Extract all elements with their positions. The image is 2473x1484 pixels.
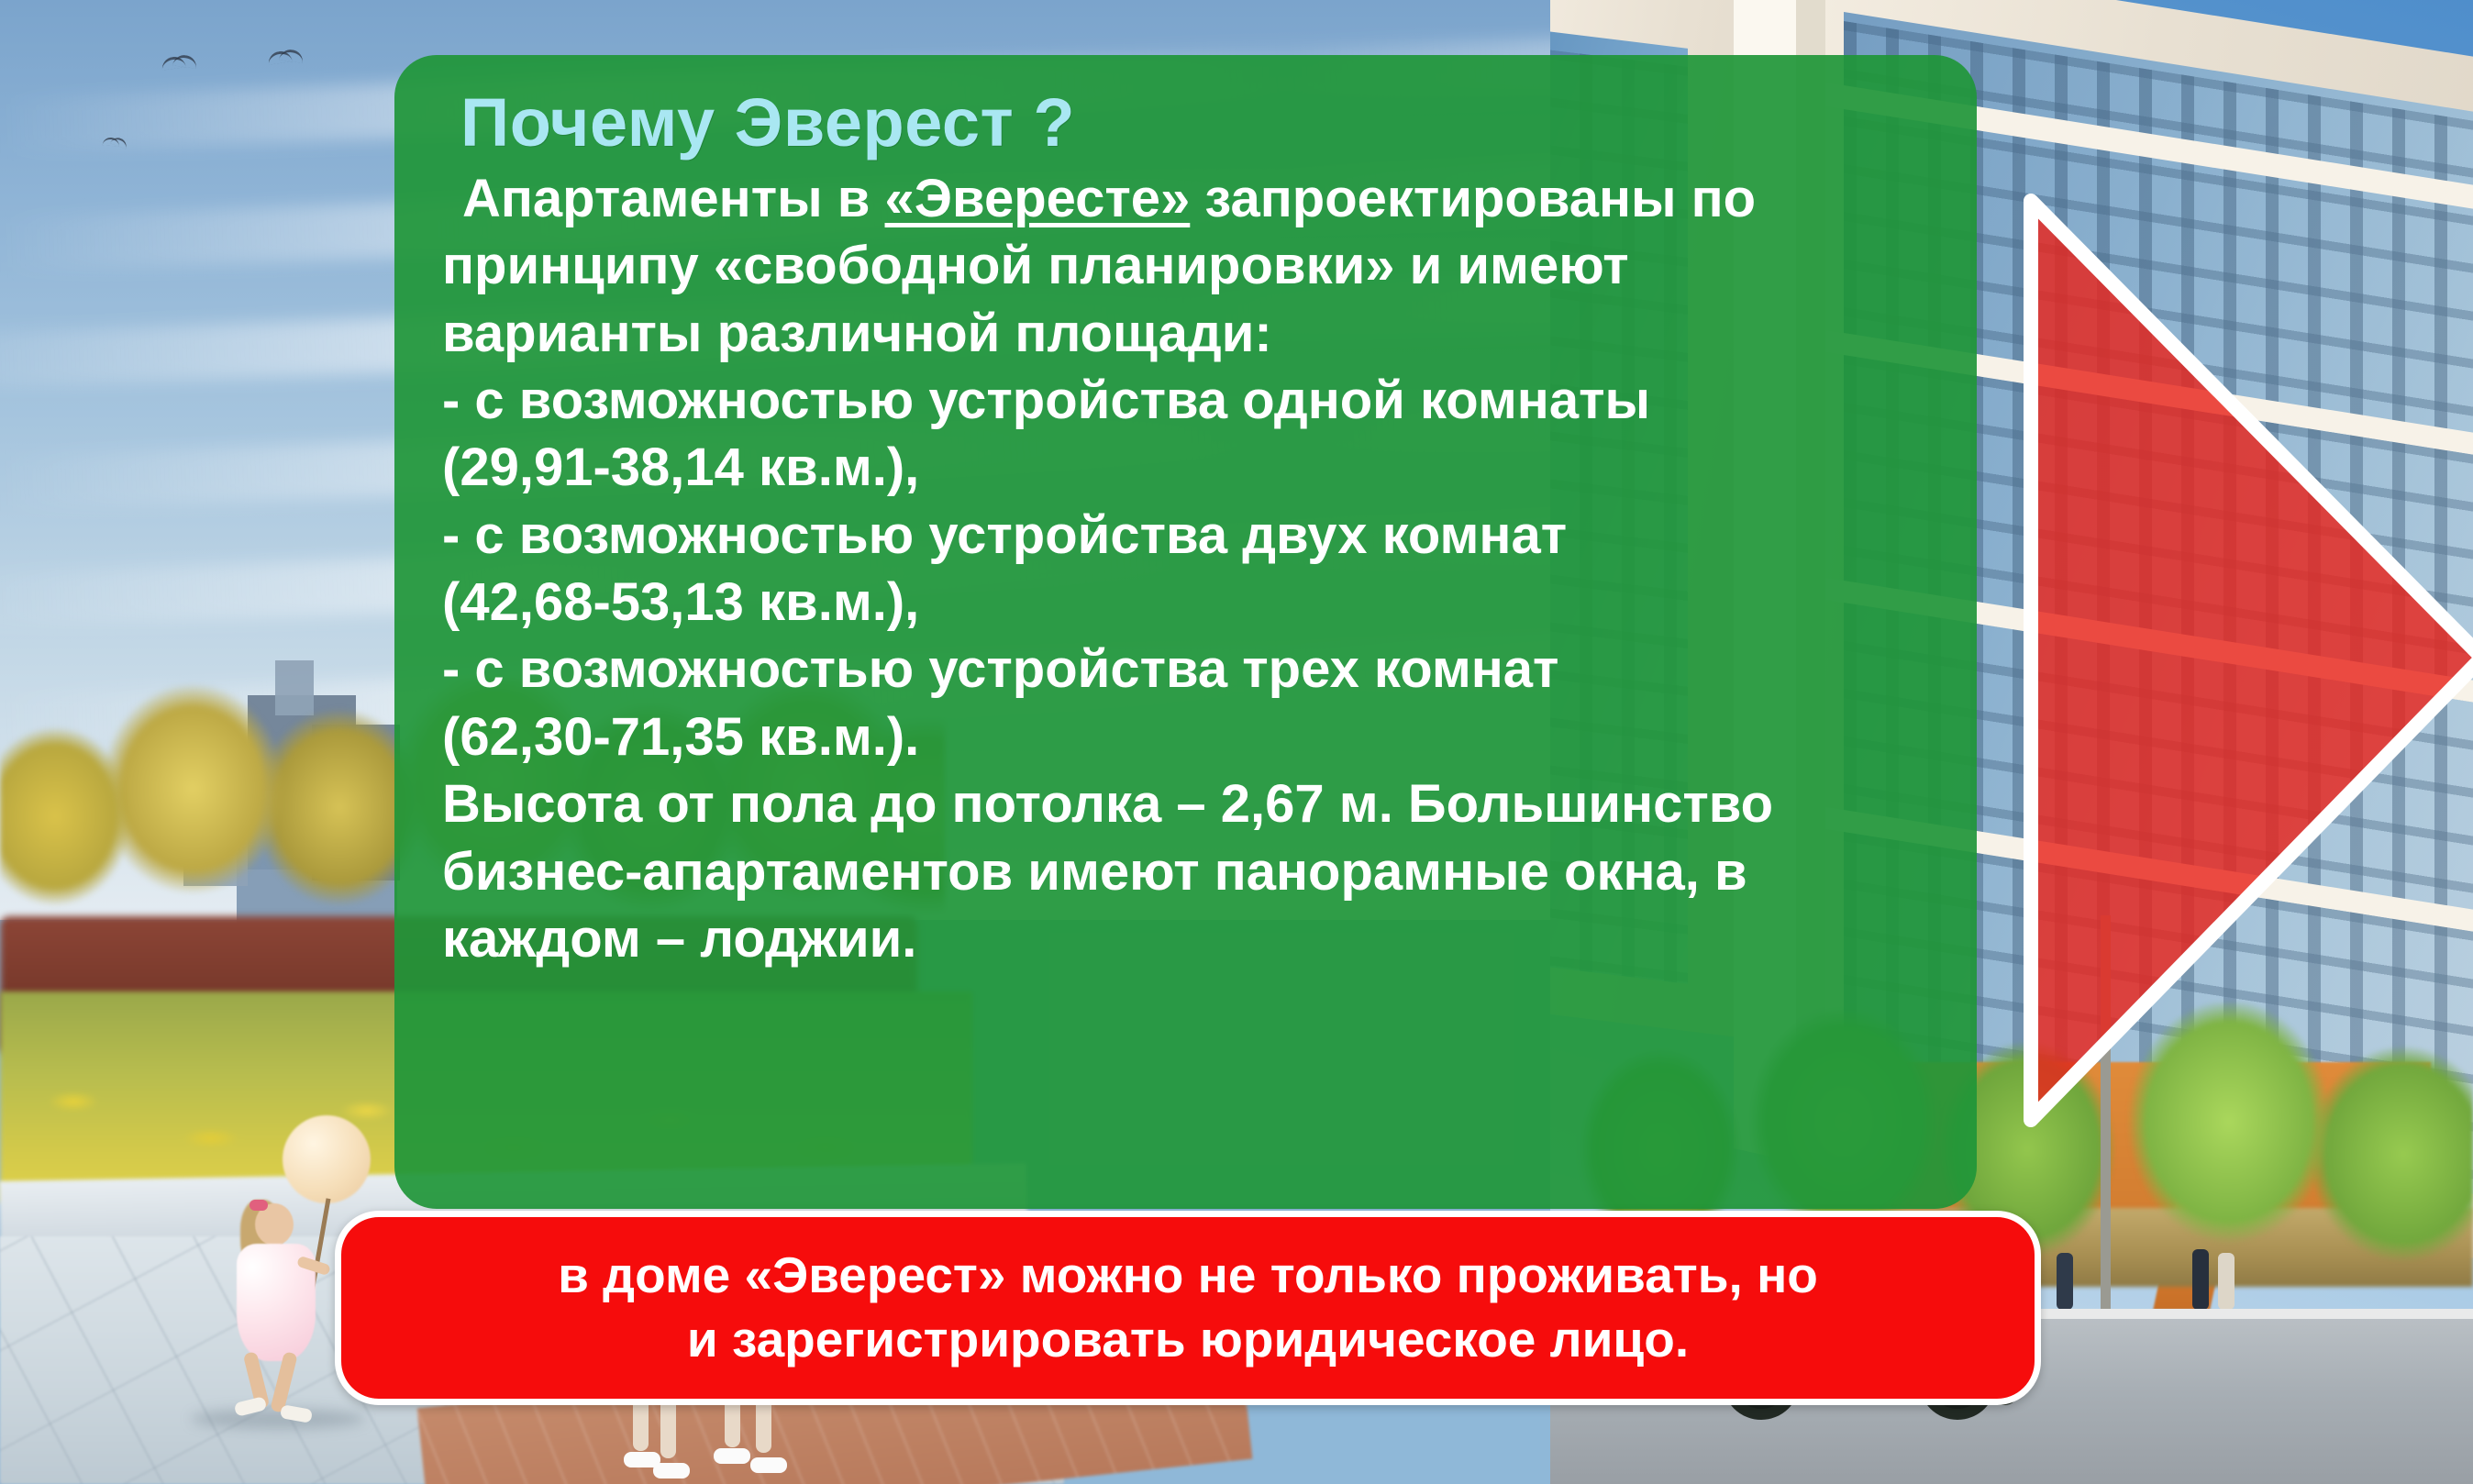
red-callout-banner: в доме «Эверест» можно не только прожива… (335, 1211, 2041, 1405)
body-line-7: (42,68-53,13 кв.м.), (442, 569, 1925, 636)
bird-icon (103, 137, 120, 146)
body-line-4: - с возможностью устройства одной комнат… (442, 367, 1925, 434)
presentation-slide: Почему Эверест ? Апартаменты в «Эвересте… (0, 0, 2473, 1484)
banner-line-2: и зарегистрировать юридическое лицо. (687, 1311, 1689, 1369)
body-line-6: - с возможностью устройства двух комнат (442, 502, 1925, 569)
pedestrian (2192, 1249, 2209, 1310)
body-line-1-pre: Апартаменты в (462, 169, 885, 228)
green-content-panel: Почему Эверест ? Апартаменты в «Эвересте… (394, 55, 1977, 1209)
body-line-12: каждом – лоджии. (442, 905, 1925, 972)
body-line-1-post: запроектированы по (1190, 169, 1756, 228)
balloon-icon (283, 1115, 371, 1203)
body-line-8: - с возможностью устройства трех комнат (442, 636, 1925, 703)
pedestrian (2218, 1253, 2235, 1310)
body-line-3: варианты различной площади: (442, 300, 1925, 367)
body-line-11: бизнес-апартаментов имеют панорамные окн… (442, 838, 1925, 905)
body-line-1: Апартаменты в «Эвересте» запроектированы… (442, 165, 1925, 232)
page-title: Почему Эверест ? (460, 86, 1925, 160)
body-line-9: (62,30-71,35 кв.м.). (442, 703, 1925, 770)
pedestrian (2057, 1253, 2073, 1310)
body-line-2: принципу «свободной планировки» и имеют (442, 232, 1925, 299)
body-line-10: Высота от пола до потолка – 2,67 м. Боль… (442, 770, 1925, 837)
banner-line-1: в доме «Эверест» можно не только прожива… (558, 1246, 1818, 1305)
child-with-balloon (209, 1115, 347, 1418)
body-line-1-underlined: «Эвересте» (885, 169, 1191, 228)
body-line-5: (29,91-38,14 кв.м.), (442, 434, 1925, 501)
street-lamp-pole (2101, 915, 2111, 1310)
